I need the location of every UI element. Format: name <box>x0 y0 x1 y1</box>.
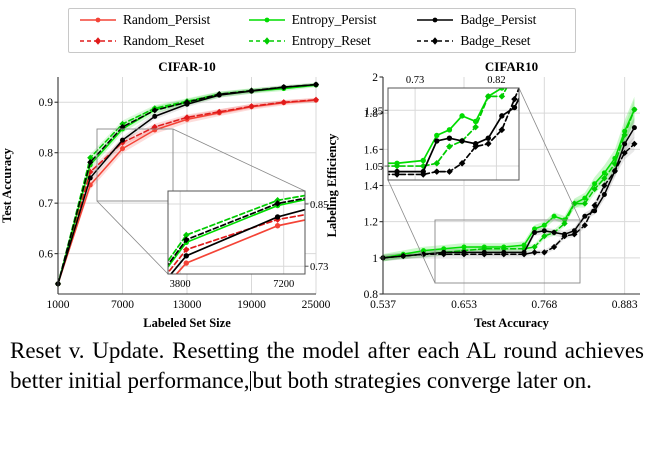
legend-item-entropy-reset: Entropy_Reset <box>238 33 407 49</box>
series-marker-badge-persist <box>622 141 627 146</box>
inset-series-marker-entropy-persist <box>447 127 452 132</box>
inset-series-marker-entropy-persist <box>421 158 426 163</box>
y-tick-label: 0.9 <box>39 97 54 109</box>
series-marker-random-persist <box>120 146 125 151</box>
y-tick-label: 1.6 <box>364 144 379 156</box>
chart-right-labeling-efficiency: CIFAR100.811.21.41.61.820.5370.6530.7680… <box>325 55 650 330</box>
legend-item-random-persist: Random_Persist <box>69 12 238 28</box>
y-tick-label: 0.6 <box>39 249 54 261</box>
inset-x-tick-label: 3800 <box>170 279 191 290</box>
series-marker-entropy-persist <box>552 214 557 219</box>
series-marker-badge-persist <box>542 228 547 233</box>
caption-text-part2: but both strategies converge later on. <box>252 368 591 393</box>
x-tick-label: 13000 <box>173 299 202 311</box>
inset-y-tick-label: 1.05 <box>365 162 383 173</box>
series-marker-entropy-persist <box>542 223 547 228</box>
x-axis-title: Test Accuracy <box>474 316 550 330</box>
series-marker-badge-persist <box>602 192 607 197</box>
chart-svg-left: CIFAR-100.60.70.80.910007000130001900025… <box>0 55 330 330</box>
inset-series-marker-badge-persist <box>459 138 464 143</box>
legend-item-entropy-persist: Entropy_Persist <box>238 12 407 28</box>
zoom-connector-line <box>173 129 305 191</box>
legend-label: Random_Reset <box>123 33 204 49</box>
x-tick-label: 7000 <box>111 299 134 311</box>
y-tick-label: 1.4 <box>364 181 379 193</box>
inset-series-marker-random-persist <box>275 223 280 228</box>
legend-swatch-solid <box>416 14 454 26</box>
chart-svg-right: CIFAR100.811.21.41.61.820.5370.6530.7680… <box>325 55 650 330</box>
inset-series-marker-badge-persist <box>447 135 452 140</box>
legend-label: Random_Persist <box>123 12 210 28</box>
inset-series-marker-random-persist <box>184 260 189 265</box>
zoom-connector-line <box>388 180 435 283</box>
series-marker-badge-persist <box>120 138 125 143</box>
legend-item-badge-persist: Badge_Persist <box>406 12 575 28</box>
y-axis-title: Labeling Efficiency <box>325 133 339 238</box>
x-tick-label: 0.653 <box>451 299 477 311</box>
chart-left-test-accuracy: CIFAR-100.60.70.80.910007000130001900025… <box>0 55 330 330</box>
legend-swatch-solid <box>248 14 286 26</box>
legend-item-random-reset: Random_Reset <box>69 33 238 49</box>
chart-legend: Random_PersistEntropy_PersistBadge_Persi… <box>68 8 576 53</box>
series-marker-badge-persist <box>88 175 93 180</box>
y-tick-label: 1 <box>372 253 378 265</box>
zoom-connector-line <box>97 201 168 274</box>
inset-series-marker-badge-persist <box>499 113 504 118</box>
legend-swatch-dashed <box>79 35 117 47</box>
legend-label: Entropy_Persist <box>292 12 377 28</box>
x-axis-title: Labeled Set Size <box>143 316 231 330</box>
x-tick-label: 1000 <box>47 299 70 311</box>
inset-series-marker-badge-persist <box>434 138 439 143</box>
y-tick-label: 1.2 <box>364 217 379 229</box>
inset-x-tick-label: 0.82 <box>487 75 505 86</box>
series-marker-badge-persist <box>582 214 587 219</box>
legend-label: Entropy_Reset <box>292 33 371 49</box>
series-marker-badge-persist <box>552 230 557 235</box>
legend-swatch-dashed <box>248 35 286 47</box>
inset-series-marker-badge-persist <box>275 214 280 219</box>
inset-series-marker-badge-persist <box>486 135 491 140</box>
legend-item-badge-reset: Badge_Reset <box>406 33 575 49</box>
y-tick-label: 0.7 <box>39 198 54 210</box>
series-marker-badge-persist <box>632 125 637 130</box>
inset-x-tick-label: 7200 <box>273 279 294 290</box>
zoom-connector-line <box>519 88 580 220</box>
inset-series-marker-entropy-persist <box>459 113 464 118</box>
inset-series-marker-badge-persist <box>184 253 189 258</box>
chart-title: CIFAR10 <box>485 59 538 74</box>
y-tick-label: 2 <box>372 72 378 84</box>
series-marker-badge-persist <box>592 208 597 213</box>
figure-caption: Reset v. Update. Resetting the model aft… <box>10 336 644 396</box>
legend-label: Badge_Persist <box>460 12 536 28</box>
y-tick-label: 0.8 <box>39 148 54 160</box>
x-tick-label: 0.537 <box>370 299 396 311</box>
legend-label: Badge_Reset <box>460 33 530 49</box>
inset-series-marker-entropy-persist <box>434 133 439 138</box>
x-tick-label: 19000 <box>237 299 266 311</box>
inset-y-tick-label: 1.25 <box>365 106 383 117</box>
legend-swatch-dashed <box>416 35 454 47</box>
series-marker-entropy-persist <box>592 181 597 186</box>
inset-series-marker-badge-persist <box>524 80 529 85</box>
x-tick-label: 0.768 <box>531 299 557 311</box>
figure-page: Random_PersistEntropy_PersistBadge_Persi… <box>0 0 650 449</box>
series-marker-badge-persist <box>152 114 157 119</box>
inset-x-tick-label: 0.73 <box>406 75 424 86</box>
y-axis-title: Test Accuracy <box>0 147 14 223</box>
series-marker-badge-persist <box>532 230 537 235</box>
legend-swatch-solid <box>79 14 117 26</box>
x-tick-label: 0.883 <box>612 299 638 311</box>
chart-title: CIFAR-10 <box>158 59 216 74</box>
